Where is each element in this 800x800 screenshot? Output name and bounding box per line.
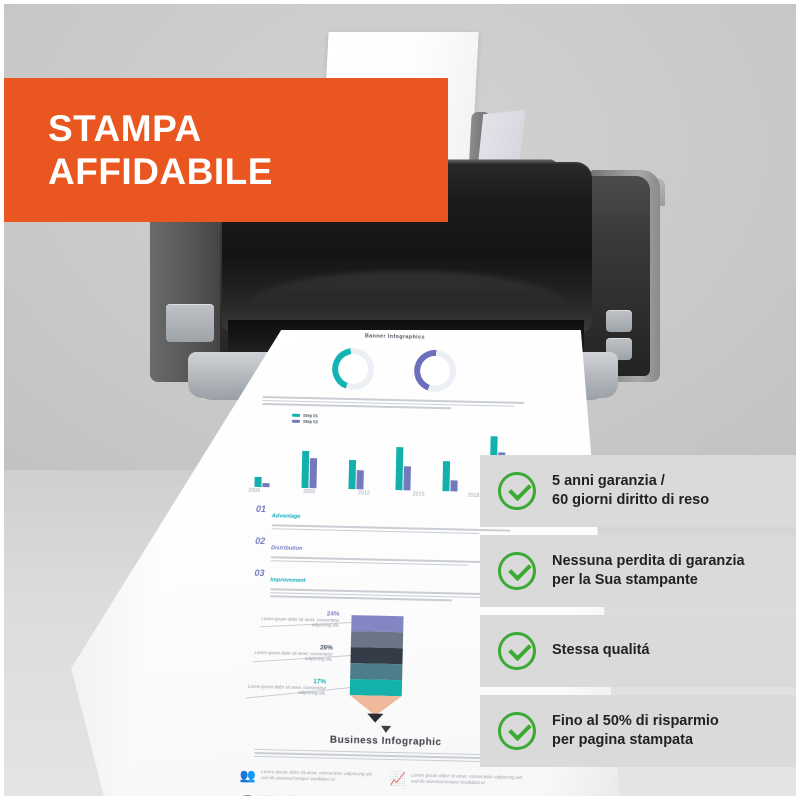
bar xyxy=(450,480,457,491)
printer-button-small-top xyxy=(606,310,632,332)
step-title: Advantage xyxy=(272,513,301,520)
clock-phone-icon: ☎ xyxy=(239,794,255,800)
funnel-caption: Lorem ipsum dolor sit amet, consectetur … xyxy=(240,683,326,697)
feature-list: 5 anni garanzia / 60 giorni diritto di r… xyxy=(480,455,800,775)
x-axis-tick-label: 2009 xyxy=(303,489,315,495)
funnel-caption: Lorem ipsum dolor sit amet, consectetur … xyxy=(246,649,332,663)
legend-label: Step 01 xyxy=(303,412,318,417)
feature-item-no-warranty-loss: Nessuna perdita di garanzia per la Sua s… xyxy=(480,535,800,607)
bar xyxy=(348,460,356,489)
bar xyxy=(254,477,261,487)
feature-item-warranty: 5 anni garanzia / 60 giorni diritto di r… xyxy=(480,455,800,527)
feature-label: 5 anni garanzia / 60 giorni diritto di r… xyxy=(552,472,709,511)
bar xyxy=(395,447,403,490)
feature-label: Fino al 50% di risparmio per pagina stam… xyxy=(552,712,719,751)
legend-swatch-icon xyxy=(292,420,300,423)
pencil-lead xyxy=(367,713,383,722)
bar xyxy=(301,451,309,488)
icon-feature-text: Lorem ipsum dolor sit amet, consectetur … xyxy=(261,769,380,785)
step-title: Distribution xyxy=(271,545,303,552)
bar xyxy=(309,458,317,489)
step-number: 03 xyxy=(254,568,264,578)
icon-feature-people: 👥 Lorem ipsum dolor sit amet, consectetu… xyxy=(240,769,380,785)
bar-group xyxy=(395,447,411,491)
x-axis-tick-label: 2015 xyxy=(413,491,425,497)
funnel-label-1: 24% Lorem ipsum dolor sit amet, consecte… xyxy=(253,608,339,629)
feature-label: Stessa qualitá xyxy=(552,641,650,660)
headline-banner: STAMPA AFFIDABILE xyxy=(0,78,448,222)
check-circle-icon xyxy=(498,472,536,510)
headline-line-2: AFFIDABILE xyxy=(48,150,448,193)
bar xyxy=(356,470,363,489)
bar-group xyxy=(348,460,364,489)
check-circle-icon xyxy=(498,712,536,750)
feature-label: Nessuna perdita di garanzia per la Sua s… xyxy=(552,552,745,591)
people-group-icon: 👥 xyxy=(240,769,256,782)
donut-1-label: 35% xyxy=(347,366,358,372)
chart-legend: Step 01 Step 02 xyxy=(292,412,538,429)
step-number: 01 xyxy=(256,504,266,514)
funnel-label-3: 17% Lorem ipsum dolor sit amet, consecte… xyxy=(240,676,326,697)
legend-label: Step 02 xyxy=(303,419,318,424)
x-axis-tick-label: 2012 xyxy=(358,490,370,496)
bar xyxy=(262,483,269,487)
check-circle-icon xyxy=(498,552,536,590)
step-number: 02 xyxy=(255,536,265,546)
funnel-caption: Lorem ipsum dolor sit amet, consectetur … xyxy=(253,615,339,629)
down-arrow-icon xyxy=(381,725,391,732)
infographic-paragraph xyxy=(262,396,524,410)
check-circle-icon xyxy=(498,632,536,670)
bar xyxy=(442,461,450,492)
business-paragraph xyxy=(254,748,516,762)
bar-group xyxy=(442,461,458,492)
bar xyxy=(403,466,411,490)
donut-chart-1: 35% xyxy=(332,348,375,391)
donut-chart-2: 37% xyxy=(414,349,457,392)
bar-group xyxy=(254,477,269,487)
x-axis-tick-label: 2006 xyxy=(248,488,260,494)
step-title: Improvement xyxy=(270,577,305,584)
pencil-body xyxy=(349,615,403,723)
legend-swatch-icon xyxy=(292,413,300,416)
headline-line-1: STAMPA xyxy=(48,107,448,150)
printer-button-large xyxy=(166,304,214,342)
bar-group xyxy=(301,451,317,488)
promo-image: Banner Infographics 35% 37% Step 01 Step… xyxy=(0,0,800,800)
feature-item-quality: Stessa qualitá xyxy=(480,615,800,687)
feature-item-savings: Fino al 50% di risparmio per pagina stam… xyxy=(480,695,800,767)
bar-chart-growth-icon: 📈 xyxy=(390,772,406,785)
donut-chart-group: 35% 37% xyxy=(249,346,540,395)
x-axis-tick-label: 2018 xyxy=(467,493,479,499)
donut-2-label: 37% xyxy=(429,368,440,374)
funnel-label-2: 26% Lorem ipsum dolor sit amet, consecte… xyxy=(246,642,332,663)
